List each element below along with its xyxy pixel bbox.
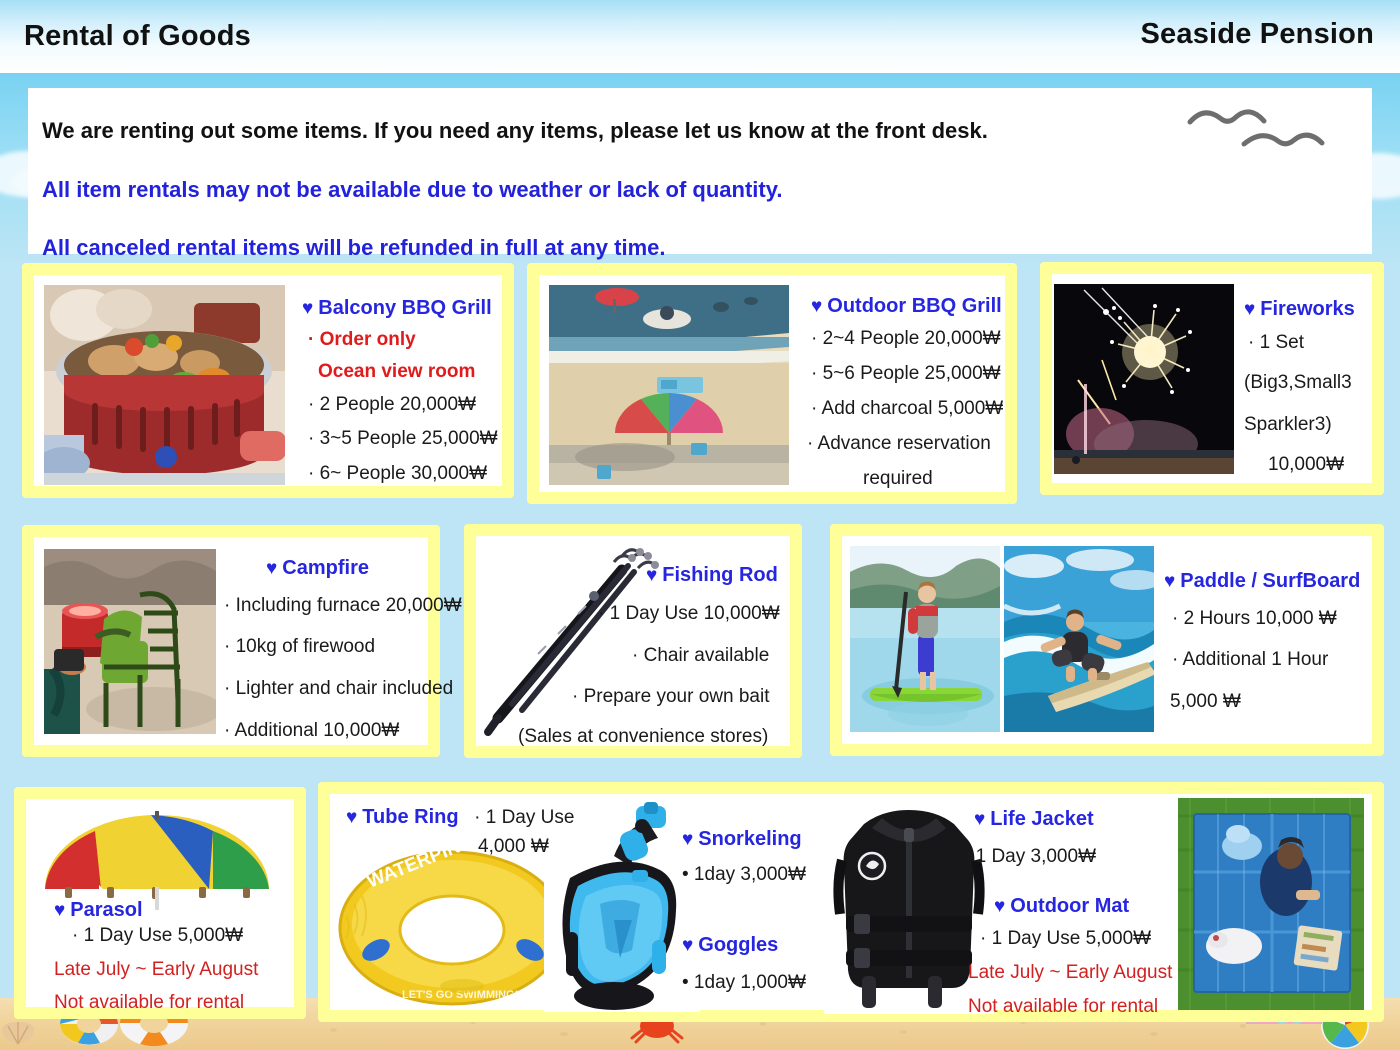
item-title-snorkeling: ♥Snorkeling	[682, 828, 802, 851]
card-inner: ♥Outdoor BBQ Grill · 2~4 People 20,000₩ …	[539, 275, 1005, 492]
item-line: · 6~ People 30,000₩	[308, 463, 487, 485]
item-line: · Chair available	[632, 645, 769, 667]
card-parasol[interactable]: ♥Parasol · 1 Day Use 5,000₩ Late July ~ …	[14, 787, 306, 1019]
sand-speck	[900, 1030, 907, 1034]
item-line: · 5~6 People 25,000₩	[811, 363, 1001, 385]
item-title-life-jacket: ♥Life Jacket	[974, 808, 1094, 831]
item-line: · Prepare your own bait	[572, 686, 770, 708]
item-line: · Including furnace 20,000₩	[224, 595, 462, 617]
card-outdoor-bbq-grill[interactable]: ♥Outdoor BBQ Grill · 2~4 People 20,000₩ …	[527, 263, 1017, 504]
card-fishing-rod[interactable]: ♥Fishing Rod · 1 Day Use 10,000₩ · Chair…	[464, 524, 802, 758]
item-warning-line: Not available for rental	[54, 992, 244, 1014]
item-line: · Lighter and chair included	[224, 678, 453, 700]
item-line: 4,000 ₩	[478, 836, 549, 858]
card-inner: WATERPING LET'S GO SWIMMING!	[330, 794, 1372, 1010]
notice-line-2: All item rentals may not be available du…	[42, 179, 1350, 201]
item-line: · 1 Set	[1248, 332, 1304, 354]
heart-icon: ♥	[346, 807, 357, 828]
card-balcony-bbq-grill[interactable]: ♥Balcony BBQ Grill · Order only Ocean vi…	[22, 263, 514, 498]
item-line: · 2~4 People 20,000₩	[811, 328, 1001, 350]
item-line: · Additional 10,000₩	[224, 720, 399, 742]
card-inner: ♥Paddle / SurfBoard · 2 Hours 10,000 ₩ ·…	[842, 536, 1372, 744]
notice-line-3: All canceled rental items will be refund…	[42, 237, 1350, 259]
item-line: · 10kg of firewood	[224, 636, 375, 658]
item-line: · 1 Day Use 5,000₩	[72, 925, 243, 947]
item-title-paddle-surfboard: ♥Paddle / SurfBoard	[1164, 570, 1360, 593]
brand-name: Seaside Pension	[1141, 18, 1375, 51]
item-line: · 1 Day Use 10,000₩	[598, 603, 780, 625]
heart-icon: ♥	[646, 565, 657, 586]
heart-icon: ♥	[266, 558, 277, 579]
item-line: · 3~5 People 25,000₩	[308, 428, 498, 450]
card-inner: ♥Campfire · Including furnace 20,000₩ · …	[34, 537, 428, 745]
heart-icon: ♥	[682, 935, 693, 956]
item-line: Sparkler3)	[1244, 414, 1332, 436]
card-fireworks[interactable]: ♥Fireworks · 1 Set (Big3,Small3 Sparkler…	[1040, 262, 1384, 495]
card-water-gear-group[interactable]: WATERPING LET'S GO SWIMMING!	[318, 782, 1384, 1022]
item-title-campfire: ♥Campfire	[266, 557, 369, 580]
item-title-fireworks: ♥Fireworks	[1244, 298, 1355, 321]
item-title-fishing-rod: ♥Fishing Rod	[646, 564, 778, 587]
sand-speck	[1240, 1024, 1246, 1028]
item-title-parasol: ♥Parasol	[54, 899, 143, 922]
item-line: · Advance reservation	[807, 433, 991, 455]
heart-icon: ♥	[1244, 299, 1255, 320]
card-inner: ♥Fishing Rod · 1 Day Use 10,000₩ · Chair…	[476, 536, 790, 746]
heart-icon: ♥	[811, 296, 822, 317]
heart-icon: ♥	[1164, 571, 1175, 592]
item-line: (Big3,Small3	[1244, 372, 1352, 394]
card-inner: ♥Balcony BBQ Grill · Order only Ocean vi…	[34, 275, 502, 486]
item-line: 10,000₩	[1268, 454, 1344, 476]
item-title-goggles: ♥Goggles	[682, 934, 778, 957]
item-line: · 1 Day 3,000₩	[964, 846, 1096, 868]
sand-speck	[560, 1032, 568, 1036]
card-campfire[interactable]: ♥Campfire · Including furnace 20,000₩ · …	[22, 525, 440, 757]
heart-icon: ♥	[682, 829, 693, 850]
card-inner: ♥Fireworks · 1 Set (Big3,Small3 Sparkler…	[1052, 274, 1372, 483]
item-line: · Add charcoal 5,000₩	[811, 398, 1003, 420]
notice-box: We are renting out some items. If you ne…	[28, 88, 1372, 254]
item-line: · 2 People 20,000₩	[308, 394, 476, 416]
notice-line-1: We are renting out some items. If you ne…	[42, 120, 1350, 142]
page-header: Rental of Goods Seaside Pension	[0, 0, 1400, 73]
item-line: · 2 Hours 10,000 ₩	[1172, 608, 1337, 630]
item-line: · Additional 1 Hour	[1172, 649, 1328, 671]
item-line: · 1 Day Use 5,000₩	[980, 928, 1151, 950]
item-warning-line: Late July ~ Early August	[968, 962, 1172, 984]
item-title-outdoor-bbq: ♥Outdoor BBQ Grill	[811, 295, 1002, 318]
heart-icon: ♥	[974, 809, 985, 830]
item-warning-line: Not available for rental	[968, 996, 1158, 1018]
card-inner: ♥Parasol · 1 Day Use 5,000₩ Late July ~ …	[26, 799, 294, 1007]
seashell-icon	[0, 1020, 36, 1046]
item-title-tube-ring: ♥Tube Ring · 1 Day Use	[346, 806, 574, 829]
item-line: · Order only	[308, 329, 416, 351]
item-line: (Sales at convenience stores)	[518, 726, 768, 748]
item-line: Ocean view room	[318, 361, 475, 383]
item-line: • 1day 3,000₩	[682, 864, 806, 886]
heart-icon: ♥	[54, 900, 65, 921]
sand-speck	[1150, 1032, 1158, 1036]
item-title-balcony-bbq: ♥Balcony BBQ Grill	[302, 297, 492, 320]
seagull-icon	[1182, 96, 1352, 156]
item-line: 5,000 ₩	[1170, 691, 1241, 713]
sand-speck	[330, 1028, 337, 1032]
item-line: required	[863, 468, 933, 490]
item-line: • 1day 1,000₩	[682, 972, 806, 994]
card-paddle-surfboard[interactable]: ♥Paddle / SurfBoard · 2 Hours 10,000 ₩ ·…	[830, 524, 1384, 756]
item-warning-line: Late July ~ Early August	[54, 959, 258, 981]
page-title: Rental of Goods	[24, 20, 251, 53]
heart-icon: ♥	[302, 298, 313, 319]
sand-speck	[760, 1022, 766, 1026]
heart-icon: ♥	[994, 896, 1005, 917]
item-title-outdoor-mat: ♥Outdoor Mat	[994, 895, 1129, 918]
